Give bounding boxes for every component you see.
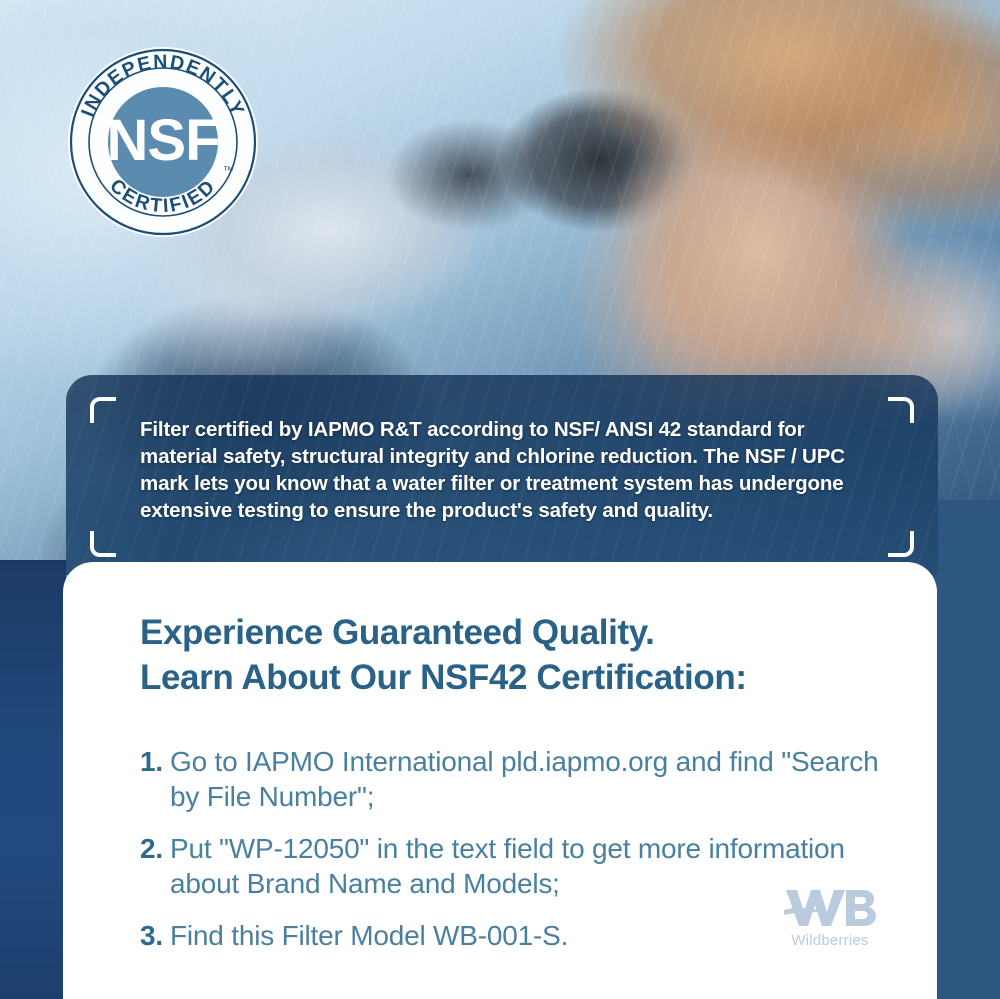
card-heading-line-1: Experience Guaranteed Quality. <box>140 610 880 655</box>
wildberries-monogram-icon <box>784 886 876 930</box>
left-blue-strip <box>0 560 66 999</box>
corner-bracket-bottom-left-icon <box>90 531 116 557</box>
certification-info-panel: Filter certified by IAPMO R&T according … <box>66 375 938 575</box>
step-number: 2. <box>140 831 170 866</box>
right-blue-texture-panel <box>930 500 1000 999</box>
card-heading: Experience Guaranteed Quality. Learn Abo… <box>140 610 880 700</box>
nsf-badge-center-text: NSF <box>107 108 220 173</box>
certification-infographic: INDEPENDENTLY CERTIFIED NSF ™ Filter cer… <box>0 0 1000 999</box>
corner-bracket-bottom-right-icon <box>888 531 914 557</box>
step-number: 1. <box>140 744 170 779</box>
wildberries-watermark: Wildberries <box>771 886 889 949</box>
corner-bracket-top-left-icon <box>90 397 116 423</box>
list-item: 1. Go to IAPMO International pld.iapmo.o… <box>140 744 900 814</box>
corner-bracket-top-right-icon <box>888 397 914 423</box>
step-text: Go to IAPMO International pld.iapmo.org … <box>170 744 900 814</box>
nsf-badge-trademark: ™ <box>223 165 234 177</box>
step-number: 3. <box>140 918 170 953</box>
wildberries-label: Wildberries <box>771 932 889 949</box>
instructions-card: Experience Guaranteed Quality. Learn Abo… <box>63 562 937 999</box>
card-heading-line-2: Learn About Our NSF42 Certification: <box>140 655 880 700</box>
certification-paragraph: Filter certified by IAPMO R&T according … <box>140 416 880 524</box>
nsf-certified-badge: INDEPENDENTLY CERTIFIED NSF ™ <box>63 42 263 242</box>
